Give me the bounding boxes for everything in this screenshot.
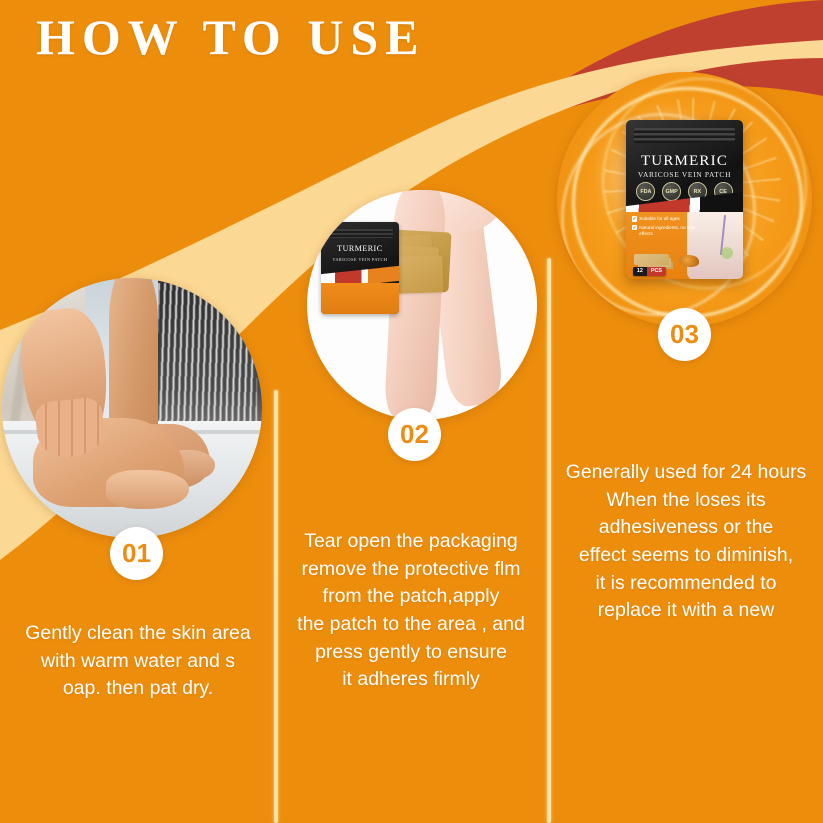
quantity-number: 12: [633, 267, 647, 276]
step-3-caption: Generally used for 24 hours When the los…: [550, 459, 822, 625]
feature-item: ✔ Natural ingredients, no side effects: [632, 225, 698, 238]
step-1-number-badge: 01: [110, 527, 163, 580]
package-zipper-small: [327, 229, 393, 238]
step-1-photo: [2, 278, 262, 538]
check-icon: ✔: [632, 216, 638, 222]
fda-badge-icon: FDA: [636, 182, 655, 201]
water-spray: [158, 283, 257, 439]
package-lower-panel: ✔ Suitable for all ages ✔ Natural ingred…: [626, 212, 743, 278]
turmeric-root-icon: [679, 255, 699, 267]
product-package: TURMERIC VARICOSE VEIN PATCH FDA GMP RX …: [626, 120, 743, 278]
quantity-unit: PCS: [647, 267, 666, 276]
patch-pile-illustration: [634, 254, 669, 265]
step-2-photo: TURMERIC VARICOSE VEIN PATCH: [307, 190, 537, 420]
feature-text: Suitable for all ages: [639, 216, 679, 223]
feature-text: Natural ingredients, no side effects: [639, 225, 697, 238]
package-zipper: [634, 128, 735, 142]
package-lower-small: [321, 283, 399, 314]
package-brand: TURMERIC: [626, 154, 743, 169]
step-3-photo: TURMERIC VARICOSE VEIN PATCH FDA GMP RX …: [557, 72, 812, 327]
package-subtitle: VARICOSE VEIN PATCH: [626, 170, 743, 179]
step-2-number-badge: 02: [388, 408, 441, 461]
step-3-number-badge: 03: [658, 308, 711, 361]
check-icon: ✔: [632, 225, 638, 231]
step-1-caption: Gently clean the skin area with warm wat…: [4, 620, 272, 703]
infographic-canvas: HOW TO USE: [0, 0, 823, 823]
quantity-badge: 12 PCS: [633, 267, 666, 276]
package-subtitle-small: VARICOSE VEIN PATCH: [321, 257, 399, 262]
page-title: HOW TO USE: [36, 8, 426, 66]
gmp-badge-icon: GMP: [662, 182, 681, 201]
package-brand-small: TURMERIC: [321, 244, 399, 253]
feature-list: ✔ Suitable for all ages ✔ Natural ingred…: [632, 216, 698, 240]
step-2-caption: Tear open the packaging remove the prote…: [277, 528, 545, 694]
feature-item: ✔ Suitable for all ages: [632, 216, 698, 223]
leaf-icon: [721, 247, 733, 259]
product-package-small: TURMERIC VARICOSE VEIN PATCH: [321, 222, 399, 314]
